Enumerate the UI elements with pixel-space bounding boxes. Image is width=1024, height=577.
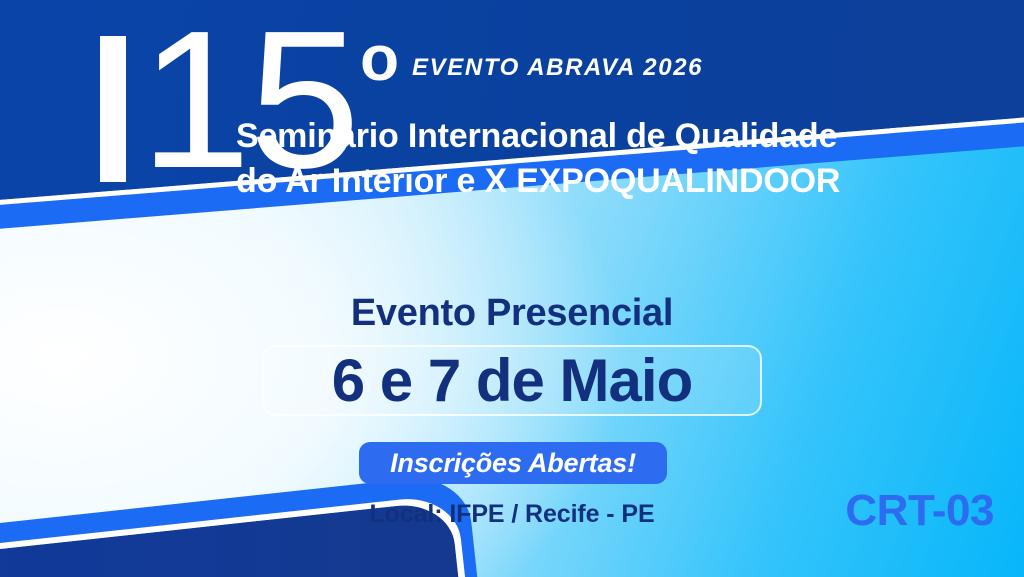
- event-format-label: Evento Presencial: [0, 292, 1024, 335]
- event-banner: 15o EVENTO ABRAVA 2026 Seminário Interna…: [0, 0, 1024, 577]
- banner-content: 15o EVENTO ABRAVA 2026 Seminário Interna…: [0, 0, 1024, 577]
- edition-digit-five: 15: [140, 14, 358, 186]
- registration-cta-label: Inscrições Abertas!: [390, 448, 636, 479]
- event-title-line-1: Seminário Internacional de Qualidade: [236, 117, 837, 156]
- event-date-box: 6 e 7 de Maio: [262, 345, 762, 416]
- edition-numeral: 15o: [100, 14, 397, 186]
- event-title-line-2: do Ar Interior e X EXPOQUALINDOOR: [236, 162, 840, 201]
- edition-digit-one: [100, 36, 126, 182]
- event-eyebrow: EVENTO ABRAVA 2026: [412, 54, 703, 82]
- crt-03-logo: CRT-03: [845, 486, 994, 536]
- event-date: 6 e 7 de Maio: [332, 351, 692, 411]
- edition-ordinal-icon: o: [360, 26, 397, 90]
- registration-cta-button[interactable]: Inscrições Abertas!: [359, 442, 667, 484]
